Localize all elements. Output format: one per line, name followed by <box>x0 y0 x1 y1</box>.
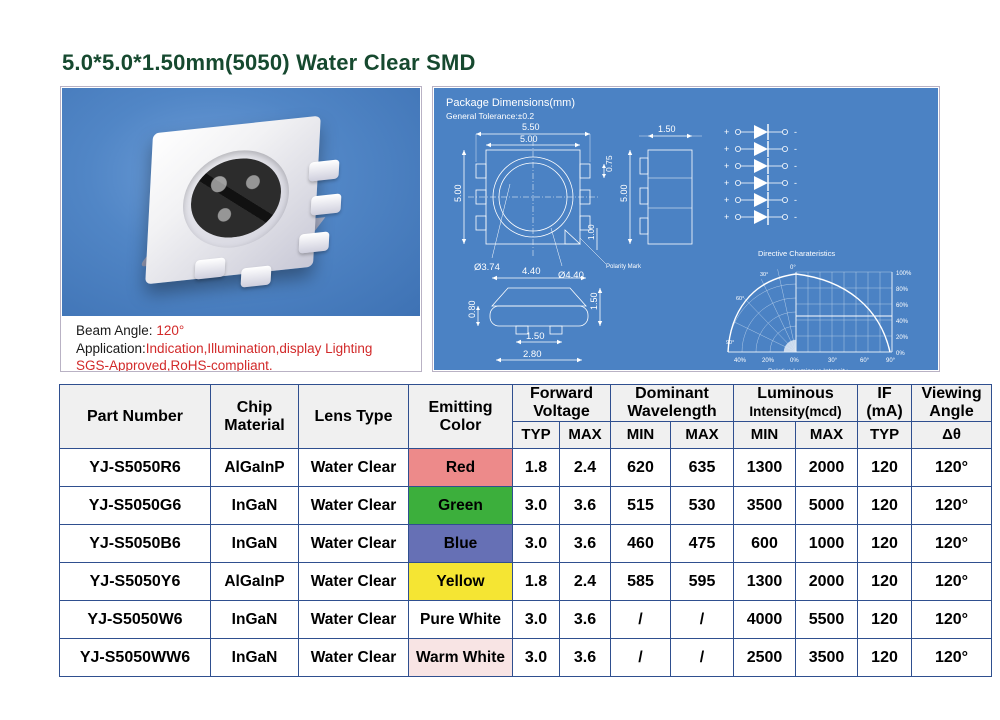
cell-emitting-color: Warm White <box>409 639 513 677</box>
cell-dw-min: / <box>611 639 671 677</box>
dim-d440: Ø4.40 <box>558 270 584 281</box>
cell-emitting-color: Blue <box>409 525 513 563</box>
cell-part-number: YJ-S5050G6 <box>60 487 211 525</box>
svg-text:100%: 100% <box>896 271 912 277</box>
beam-angle-label: Beam Angle: <box>76 323 156 338</box>
svg-text:-: - <box>794 127 797 137</box>
led-package-illustration <box>121 107 361 297</box>
application-value: Indication,Illumination,display Lighting <box>146 341 373 356</box>
table-row: YJ-S5050R6AlGaInPWater ClearRed1.82.4620… <box>60 449 992 487</box>
table-row: YJ-S5050Y6AlGaInPWater ClearYellow1.82.4… <box>60 563 992 601</box>
dim-5-00-side: 5.00 <box>619 184 629 202</box>
cell-fv-typ: 1.8 <box>513 563 560 601</box>
cell-viewing-angle: 120° <box>912 487 992 525</box>
cell-fv-typ: 1.8 <box>513 449 560 487</box>
svg-text:20%: 20% <box>896 335 909 341</box>
th-forward-voltage-l2: Voltage <box>513 403 610 421</box>
th-dw-min: MIN <box>611 422 671 449</box>
cell-dw-max: 595 <box>671 563 734 601</box>
cell-li-min: 3500 <box>734 487 796 525</box>
cell-emitting-color: Pure White <box>409 601 513 639</box>
th-emitting-color: Emitting Color <box>409 385 513 449</box>
cell-part-number: YJ-S5050WW6 <box>60 639 211 677</box>
cell-dw-min: 585 <box>611 563 671 601</box>
svg-text:0%: 0% <box>896 351 905 357</box>
svg-text:+: + <box>724 161 729 171</box>
cell-li-min: 600 <box>734 525 796 563</box>
th-emitting-color-l2: Color <box>409 417 512 435</box>
th-viewing-angle-l2: Angle <box>912 403 991 421</box>
th-luminous-intensity-l2: Intensity(mcd) <box>734 403 857 421</box>
directivity-chart: Directive Charateristics <box>726 249 912 370</box>
cell-viewing-angle: 120° <box>912 525 992 563</box>
dim-5-00-top: 5.00 <box>520 134 538 144</box>
datasheet-page: 5.0*5.0*1.50mm(5050) Water Clear SMD Be <box>0 0 1000 720</box>
product-photo-panel: Beam Angle: 120° Application:Indication,… <box>60 86 422 372</box>
th-li-max: MAX <box>796 422 858 449</box>
cell-li-max: 3500 <box>796 639 858 677</box>
dim-4-40: 4.40 <box>522 266 541 277</box>
cell-lens-type: Water Clear <box>299 601 409 639</box>
svg-text:+: + <box>724 144 729 154</box>
th-chip-material-l2: Material <box>211 417 298 435</box>
th-forward-voltage-l1: Forward <box>513 385 610 403</box>
cell-fv-typ: 3.0 <box>513 525 560 563</box>
cell-chip-material: AlGaInP <box>211 563 299 601</box>
th-viewing-angle: Viewing Angle <box>912 385 992 422</box>
th-part-number: Part Number <box>60 385 211 449</box>
cell-chip-material: InGaN <box>211 601 299 639</box>
th-luminous-intensity: Luminous Intensity(mcd) <box>734 385 858 422</box>
cell-if-typ: 120 <box>858 487 912 525</box>
cell-viewing-angle: 120° <box>912 563 992 601</box>
svg-text:60°: 60° <box>736 296 744 302</box>
product-photo <box>62 88 420 316</box>
cell-dw-min: / <box>611 601 671 639</box>
th-fv-typ: TYP <box>513 422 560 449</box>
svg-text:90°: 90° <box>726 340 734 346</box>
th-forward-voltage: Forward Voltage <box>513 385 611 422</box>
svg-text:+: + <box>724 178 729 188</box>
specification-table-wrapper: Part Number Chip Material Lens Type Emit… <box>59 384 941 677</box>
drawing-tolerance: General Tolerance:±0.2 <box>446 111 534 121</box>
specification-table: Part Number Chip Material Lens Type Emit… <box>59 384 992 677</box>
th-dominant-wavelength-l1: Dominant <box>611 385 733 403</box>
cell-if-typ: 120 <box>858 525 912 563</box>
table-row: YJ-S5050W6InGaNWater ClearPure White3.03… <box>60 601 992 639</box>
cell-chip-material: InGaN <box>211 525 299 563</box>
th-if-l2: (mA) <box>858 403 911 421</box>
cell-lens-type: Water Clear <box>299 525 409 563</box>
th-dw-max: MAX <box>671 422 734 449</box>
cell-fv-max: 3.6 <box>560 525 611 563</box>
svg-text:-: - <box>794 144 797 154</box>
th-if-l1: IF <box>858 385 911 403</box>
polarity-mark-label: Polarity Mark <box>606 264 642 270</box>
drawing-svg: Package Dimensions(mm) General Tolerance… <box>434 88 938 370</box>
svg-text:+: + <box>724 127 729 137</box>
led-pad <box>309 159 340 181</box>
dim-1-50-height: 1.50 <box>589 292 599 310</box>
drawing-heading: Package Dimensions(mm) <box>446 97 575 109</box>
cell-fv-max: 3.6 <box>560 487 611 525</box>
cell-chip-material: AlGaInP <box>211 449 299 487</box>
cell-dw-max: / <box>671 601 734 639</box>
cell-part-number: YJ-S5050R6 <box>60 449 211 487</box>
cell-fv-max: 3.6 <box>560 601 611 639</box>
svg-text:40%: 40% <box>734 358 747 364</box>
cell-emitting-color: Green <box>409 487 513 525</box>
cell-if-typ: 120 <box>858 449 912 487</box>
svg-text:+: + <box>724 212 729 222</box>
dim-d374: Ø3.74 <box>474 262 500 273</box>
cell-viewing-angle: 120° <box>912 639 992 677</box>
svg-text:+: + <box>724 195 729 205</box>
dim-2-80: 2.80 <box>523 349 542 360</box>
th-luminous-intensity-l1: Luminous <box>734 385 857 403</box>
svg-text:-: - <box>794 178 797 188</box>
svg-text:60°: 60° <box>860 358 870 364</box>
cell-lens-type: Water Clear <box>299 639 409 677</box>
compliance-line: SGS-Approved,RoHS-compliant. <box>76 357 420 372</box>
cell-fv-typ: 3.0 <box>513 601 560 639</box>
cell-dw-max: / <box>671 639 734 677</box>
cell-li-min: 4000 <box>734 601 796 639</box>
cell-lens-type: Water Clear <box>299 449 409 487</box>
svg-text:20%: 20% <box>762 358 775 364</box>
table-row: YJ-S5050WW6InGaNWater ClearWarm White3.0… <box>60 639 992 677</box>
directivity-title: Directive Charateristics <box>758 249 835 258</box>
dim-0-75: 0.75 <box>604 155 614 172</box>
cell-fv-typ: 3.0 <box>513 639 560 677</box>
th-if: IF (mA) <box>858 385 912 422</box>
th-li-min: MIN <box>734 422 796 449</box>
th-dominant-wavelength-l2: Wavelength <box>611 403 733 421</box>
package-drawing-panel: Package Dimensions(mm) General Tolerance… <box>432 86 940 372</box>
svg-text:-: - <box>794 212 797 222</box>
cell-li-max: 2000 <box>796 449 858 487</box>
product-caption: Beam Angle: 120° Application:Indication,… <box>62 316 420 370</box>
cell-lens-type: Water Clear <box>299 487 409 525</box>
table-row: YJ-S5050B6InGaNWater ClearBlue3.03.64604… <box>60 525 992 563</box>
dim-1-00: 1.00 <box>587 224 596 240</box>
cell-dw-min: 515 <box>611 487 671 525</box>
cell-li-max: 5500 <box>796 601 858 639</box>
th-chip-material-l1: Chip <box>211 399 298 417</box>
directivity-xlabel: Relative Luminous Intensity <box>768 368 848 370</box>
cell-part-number: YJ-S5050B6 <box>60 525 211 563</box>
led-pad <box>311 193 342 215</box>
svg-text:80%: 80% <box>896 287 909 293</box>
svg-text:-: - <box>794 195 797 205</box>
cell-li-max: 2000 <box>796 563 858 601</box>
cell-fv-typ: 3.0 <box>513 487 560 525</box>
cell-fv-max: 3.6 <box>560 639 611 677</box>
cell-li-max: 1000 <box>796 525 858 563</box>
dim-5-00-left: 5.00 <box>453 184 463 202</box>
dim-0-80: 0.80 <box>467 300 477 318</box>
cell-dw-max: 635 <box>671 449 734 487</box>
th-va-symbol: Δθ <box>912 422 992 449</box>
svg-text:30°: 30° <box>760 272 768 278</box>
beam-angle-line: Beam Angle: 120° <box>76 322 420 340</box>
cell-part-number: YJ-S5050W6 <box>60 601 211 639</box>
cell-part-number: YJ-S5050Y6 <box>60 563 211 601</box>
svg-text:-: - <box>794 161 797 171</box>
svg-text:60%: 60% <box>896 303 909 309</box>
cell-dw-min: 460 <box>611 525 671 563</box>
page-title: 5.0*5.0*1.50mm(5050) Water Clear SMD <box>62 50 476 76</box>
specification-table-body: YJ-S5050R6AlGaInPWater ClearRed1.82.4620… <box>60 449 992 677</box>
dim-1-50-side: 1.50 <box>658 124 676 134</box>
led-schematic-symbols: + - + <box>724 124 797 225</box>
cell-if-typ: 120 <box>858 563 912 601</box>
cell-li-min: 1300 <box>734 563 796 601</box>
cell-li-min: 1300 <box>734 449 796 487</box>
cell-if-typ: 120 <box>858 601 912 639</box>
led-pad <box>299 231 330 253</box>
th-if-typ: TYP <box>858 422 912 449</box>
th-fv-max: MAX <box>560 422 611 449</box>
cell-fv-max: 2.4 <box>560 563 611 601</box>
th-emitting-color-l1: Emitting <box>409 399 512 417</box>
cell-chip-material: InGaN <box>211 639 299 677</box>
cell-if-typ: 120 <box>858 639 912 677</box>
th-lens-type: Lens Type <box>299 385 409 449</box>
cell-dw-max: 530 <box>671 487 734 525</box>
table-row: YJ-S5050G6InGaNWater ClearGreen3.03.6515… <box>60 487 992 525</box>
svg-text:0°: 0° <box>790 265 796 271</box>
cell-dw-min: 620 <box>611 449 671 487</box>
application-line: Application:Indication,Illumination,disp… <box>76 340 420 358</box>
led-pad <box>241 265 272 287</box>
cell-viewing-angle: 120° <box>912 449 992 487</box>
led-pad <box>195 257 226 279</box>
svg-text:0%: 0% <box>790 358 799 364</box>
th-viewing-angle-l1: Viewing <box>912 385 991 403</box>
th-chip-material: Chip Material <box>211 385 299 449</box>
cell-emitting-color: Red <box>409 449 513 487</box>
technical-drawing: Package Dimensions(mm) General Tolerance… <box>434 88 938 370</box>
cell-lens-type: Water Clear <box>299 563 409 601</box>
th-dominant-wavelength: Dominant Wavelength <box>611 385 734 422</box>
panels-row: Beam Angle: 120° Application:Indication,… <box>60 86 940 372</box>
cell-fv-max: 2.4 <box>560 449 611 487</box>
cell-li-min: 2500 <box>734 639 796 677</box>
cell-dw-max: 475 <box>671 525 734 563</box>
cell-viewing-angle: 120° <box>912 601 992 639</box>
svg-text:30°: 30° <box>828 358 838 364</box>
svg-text:40%: 40% <box>896 319 909 325</box>
cell-emitting-color: Yellow <box>409 563 513 601</box>
beam-angle-value: 120° <box>156 323 184 338</box>
svg-text:90°: 90° <box>886 358 896 364</box>
cell-chip-material: InGaN <box>211 487 299 525</box>
dim-5-50: 5.50 <box>522 122 540 132</box>
cell-li-max: 5000 <box>796 487 858 525</box>
application-label: Application: <box>76 341 146 356</box>
dim-1-50-gap: 1.50 <box>526 331 545 342</box>
